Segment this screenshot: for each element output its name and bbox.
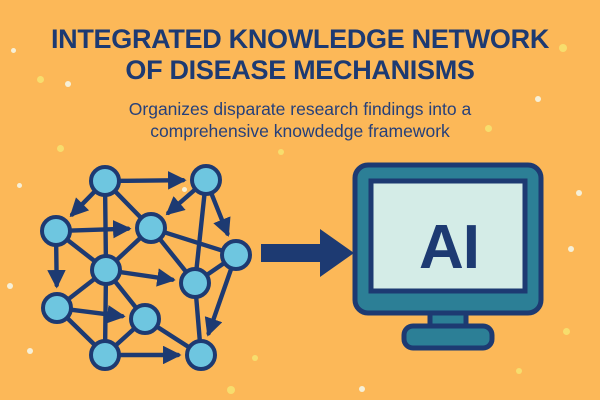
monitor-base [404,326,492,348]
decor-dot [568,246,574,252]
network-edge [197,195,205,268]
network-edge [160,240,185,272]
subtitle-line-1: Organizes disparate research findings in… [0,98,600,121]
decor-dot [516,368,522,374]
poster-header: INTEGRATED KNOWLEDGE NETWORK OF DISEASE … [0,0,600,143]
arrow-shape [261,229,354,277]
network-node [91,341,119,369]
network-edge [168,190,194,213]
network-node [192,166,220,194]
decor-dot [7,283,13,289]
decor-dot [563,328,570,335]
network-edge [69,279,94,299]
subtitle-line-2: comprehensive knowdedge framework [0,120,600,143]
network-node [92,256,120,284]
network-edge [212,194,228,234]
network-edge [120,180,183,181]
network-node [187,341,215,369]
page-subtitle: Organizes disparate research findings in… [0,87,600,144]
network-node [131,305,159,333]
network-edge [165,233,221,251]
network-edge [115,192,140,218]
network-edge [115,282,135,308]
network-edge [56,246,57,285]
network-edge [116,329,134,345]
decor-dot [359,386,365,392]
decor-dot [278,149,284,155]
network-edge [68,240,94,261]
title-line-2: OF DISEASE MECHANISMS [0,55,600,86]
network-edge [117,238,140,260]
flow-arrow-icon [258,222,358,284]
network-edge [121,272,172,280]
decor-dot [227,386,235,394]
title-line-1: INTEGRATED KNOWLEDGE NETWORK [0,24,600,55]
network-edge [196,298,200,340]
network-edge [68,318,95,344]
network-edge [72,192,94,215]
computer-monitor-icon [348,158,548,366]
network-edge [105,196,106,255]
network-node [222,241,250,269]
network-node [91,167,119,195]
page-title: INTEGRATED KNOWLEDGE NETWORK OF DISEASE … [0,0,600,87]
network-edge [158,327,189,347]
network-node [43,294,71,322]
monitor-screen [371,181,525,291]
knowledge-network-diagram [20,150,270,380]
network-edge [71,229,128,231]
decor-dot [576,190,582,196]
network-edge [209,269,231,333]
network-edge [207,263,223,274]
infographic-poster: INTEGRATED KNOWLEDGE NETWORK OF DISEASE … [0,0,600,400]
network-node [42,217,70,245]
network-node [137,214,165,242]
network-node [181,269,209,297]
network-edge [72,310,122,316]
